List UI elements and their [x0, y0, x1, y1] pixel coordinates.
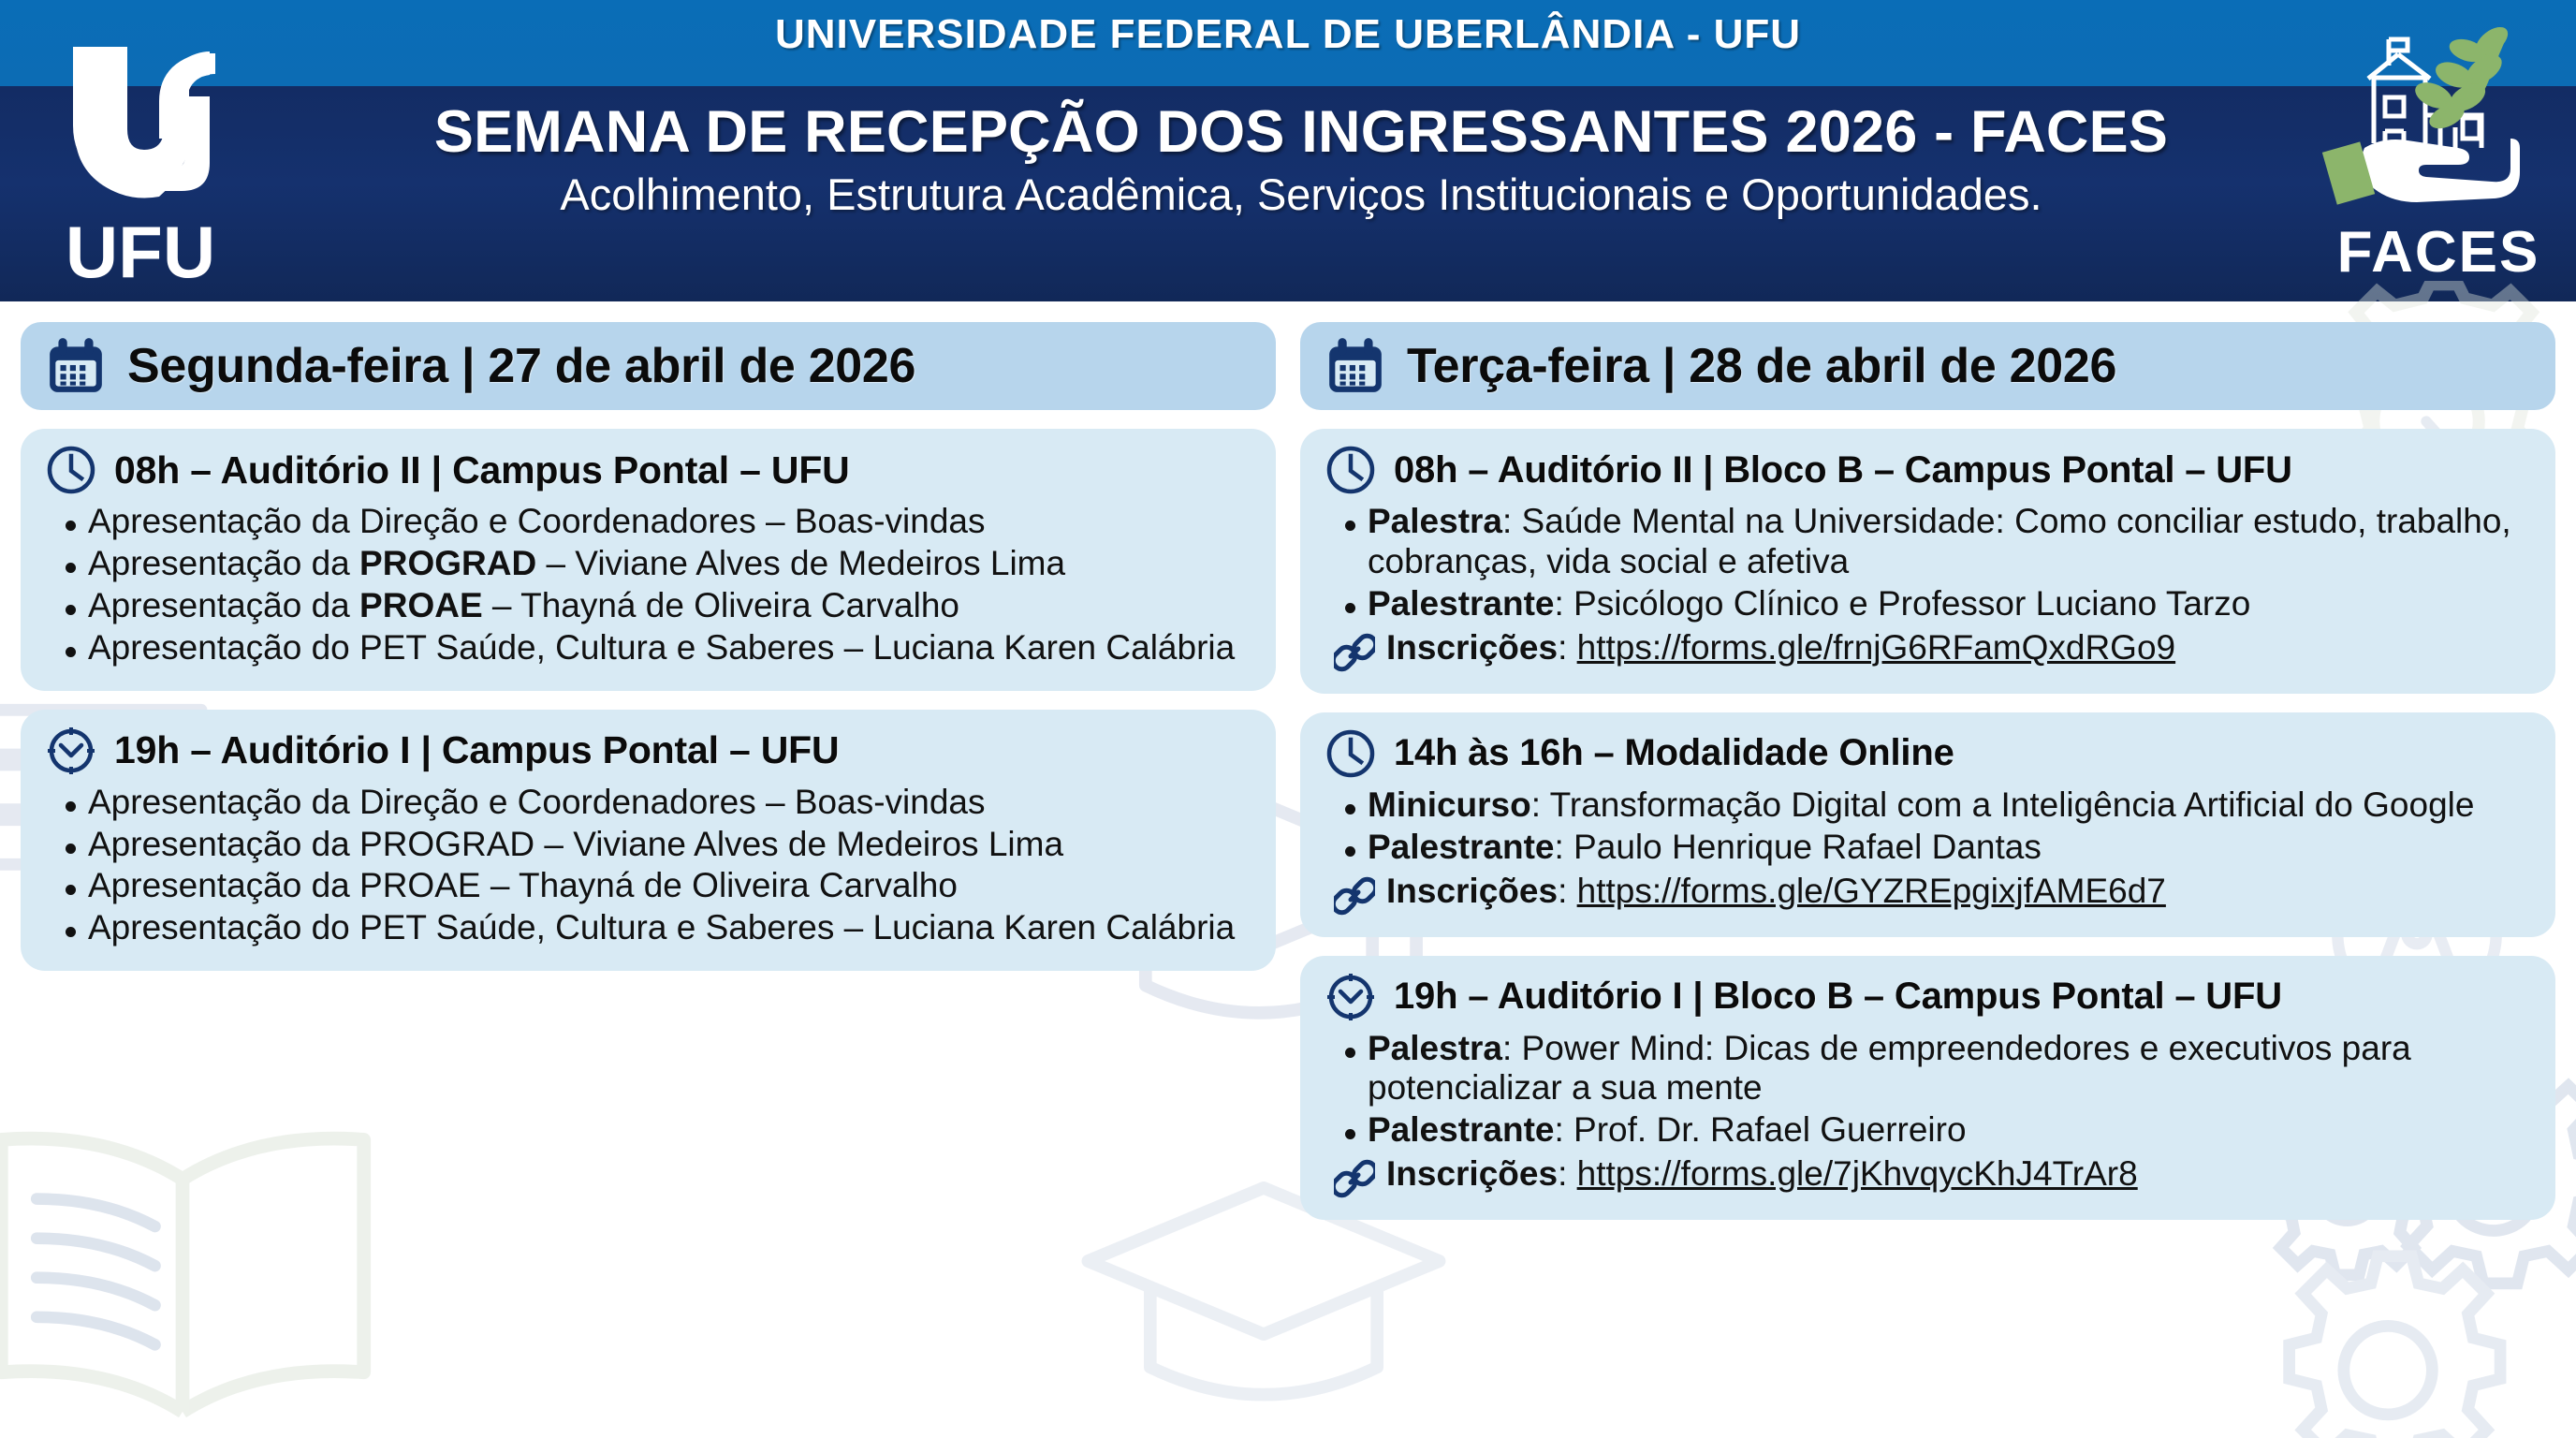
day-title: Segunda-feira | 27 de abril de 2026 — [127, 338, 915, 394]
session-title: 08h – Auditório II | Campus Pontal – UFU — [114, 448, 850, 492]
registration-text: Inscrições: https://forms.gle/GYZREpgixj… — [1386, 872, 2166, 912]
event-title: SEMANA DE RECEPÇÃO DOS INGRESSANTES 2026… — [281, 101, 2321, 164]
alarm-clock-icon — [1325, 971, 1377, 1023]
poster-root: UNIVERSIDADE FEDERAL DE UBERLÂNDIA - UFU… — [0, 0, 2576, 1438]
session-title: 19h – Auditório I | Bloco B – Campus Pon… — [1394, 976, 2282, 1018]
list-item: Apresentação da Direção e Coordenadores … — [45, 502, 1251, 542]
session-header: 19h – Auditório I | Campus Pontal – UFU — [45, 725, 1251, 777]
university-name: UNIVERSIDADE FEDERAL DE UBERLÂNDIA - UFU — [0, 11, 2576, 58]
schedule-columns: Segunda-feira | 27 de abril de 2026 08h … — [0, 301, 2576, 1220]
registration-link[interactable]: https://forms.gle/7jKhvqycKhJ4TrAr8 — [1577, 1154, 2138, 1193]
list-item: Palestrante: Prof. Dr. Rafael Guerreiro — [1325, 1110, 2531, 1151]
list-item: Palestra: Saúde Mental na Universidade: … — [1325, 502, 2531, 582]
session-items: Apresentação da Direção e Coordenadores … — [45, 502, 1251, 668]
session-card: 19h – Auditório I | Bloco B – Campus Pon… — [1300, 956, 2555, 1221]
registration-text: Inscrições: https://forms.gle/7jKhvqycKh… — [1386, 1154, 2138, 1195]
list-item: Apresentação do PET Saúde, Cultura e Sab… — [45, 628, 1251, 668]
list-item: Palestrante: Psicólogo Clínico e Profess… — [1325, 584, 2531, 624]
session-items: Palestra: Power Mind: Dicas de empreende… — [1325, 1029, 2531, 1152]
session-items: Palestra: Saúde Mental na Universidade: … — [1325, 502, 2531, 624]
list-item: Palestra: Power Mind: Dicas de empreende… — [1325, 1029, 2531, 1109]
link-icon — [1334, 875, 1375, 917]
ufu-logo: UFU — [17, 7, 265, 293]
alarm-clock-icon — [45, 725, 97, 777]
calendar-icon — [1325, 335, 1386, 397]
list-item: Apresentação da PROGRAD – Viviane Alves … — [45, 825, 1251, 865]
day-column-monday: Segunda-feira | 27 de abril de 2026 08h … — [21, 322, 1276, 1220]
registration-label: Inscrições — [1386, 1154, 1558, 1193]
list-item: Apresentação da Direção e Coordenadores … — [45, 783, 1251, 823]
registration-label: Inscrições — [1386, 628, 1558, 667]
session-header: 19h – Auditório I | Bloco B – Campus Pon… — [1325, 971, 2531, 1023]
session-items: Apresentação da Direção e Coordenadores … — [45, 783, 1251, 949]
faces-logo-text: FACES — [2337, 220, 2540, 285]
session-card: 08h – Auditório II | Bloco B – Campus Po… — [1300, 429, 2555, 694]
clock-icon — [1325, 444, 1377, 496]
day-header-tuesday: Terça-feira | 28 de abril de 2026 — [1300, 322, 2555, 410]
registration-row[interactable]: Inscrições: https://forms.gle/GYZREpgixj… — [1325, 872, 2531, 917]
list-item: Apresentação da PROAE – Thayná de Olivei… — [45, 866, 1251, 906]
day-title: Terça-feira | 28 de abril de 2026 — [1407, 338, 2116, 394]
registration-text: Inscrições: https://forms.gle/frnjG6RFam… — [1386, 628, 2175, 668]
link-icon — [1334, 1158, 1375, 1199]
session-header: 08h – Auditório II | Campus Pontal – UFU — [45, 444, 1251, 496]
list-item: Minicurso: Transformação Digital com a I… — [1325, 785, 2531, 826]
registration-link[interactable]: https://forms.gle/GYZREpgixjfAME6d7 — [1577, 872, 2166, 910]
header-title-group: SEMANA DE RECEPÇÃO DOS INGRESSANTES 2026… — [281, 101, 2321, 219]
clock-icon — [45, 444, 97, 496]
registration-row[interactable]: Inscrições: https://forms.gle/frnjG6RFam… — [1325, 628, 2531, 673]
list-item: Palestrante: Paulo Henrique Rafael Danta… — [1325, 828, 2531, 868]
registration-link[interactable]: https://forms.gle/frnjG6RFamQxdRGo9 — [1577, 628, 2175, 667]
session-header: 14h às 16h – Modalidade Online — [1325, 727, 2531, 780]
session-card: 08h – Auditório II | Campus Pontal – UFU… — [21, 429, 1276, 691]
session-card: 14h às 16h – Modalidade Online Minicurso… — [1300, 712, 2555, 937]
day-header-monday: Segunda-feira | 27 de abril de 2026 — [21, 322, 1276, 410]
link-icon — [1334, 632, 1375, 673]
ufu-logo-text: UFU — [66, 211, 215, 293]
list-item: Apresentação da PROAE – Thayná de Olivei… — [45, 586, 1251, 626]
session-title: 19h – Auditório I | Campus Pontal – UFU — [114, 728, 839, 772]
registration-label: Inscrições — [1386, 872, 1558, 910]
calendar-icon — [45, 335, 107, 397]
clock-icon — [1325, 727, 1377, 780]
session-card: 19h – Auditório I | Campus Pontal – UFU … — [21, 710, 1276, 972]
event-subtitle: Acolhimento, Estrutura Acadêmica, Serviç… — [281, 171, 2321, 219]
session-items: Minicurso: Transformação Digital com a I… — [1325, 785, 2531, 868]
poster-header: UNIVERSIDADE FEDERAL DE UBERLÂNDIA - UFU… — [0, 0, 2576, 301]
list-item: Apresentação da PROGRAD – Viviane Alves … — [45, 544, 1251, 584]
registration-row[interactable]: Inscrições: https://forms.gle/7jKhvqycKh… — [1325, 1154, 2531, 1199]
day-column-tuesday: Terça-feira | 28 de abril de 2026 08h – … — [1300, 322, 2555, 1220]
session-title: 08h – Auditório II | Bloco B – Campus Po… — [1394, 449, 2292, 492]
session-header: 08h – Auditório II | Bloco B – Campus Po… — [1325, 444, 2531, 496]
faces-logo: FACES — [2318, 7, 2559, 293]
session-title: 14h às 16h – Modalidade Online — [1394, 732, 1954, 774]
list-item: Apresentação do PET Saúde, Cultura e Sab… — [45, 908, 1251, 948]
